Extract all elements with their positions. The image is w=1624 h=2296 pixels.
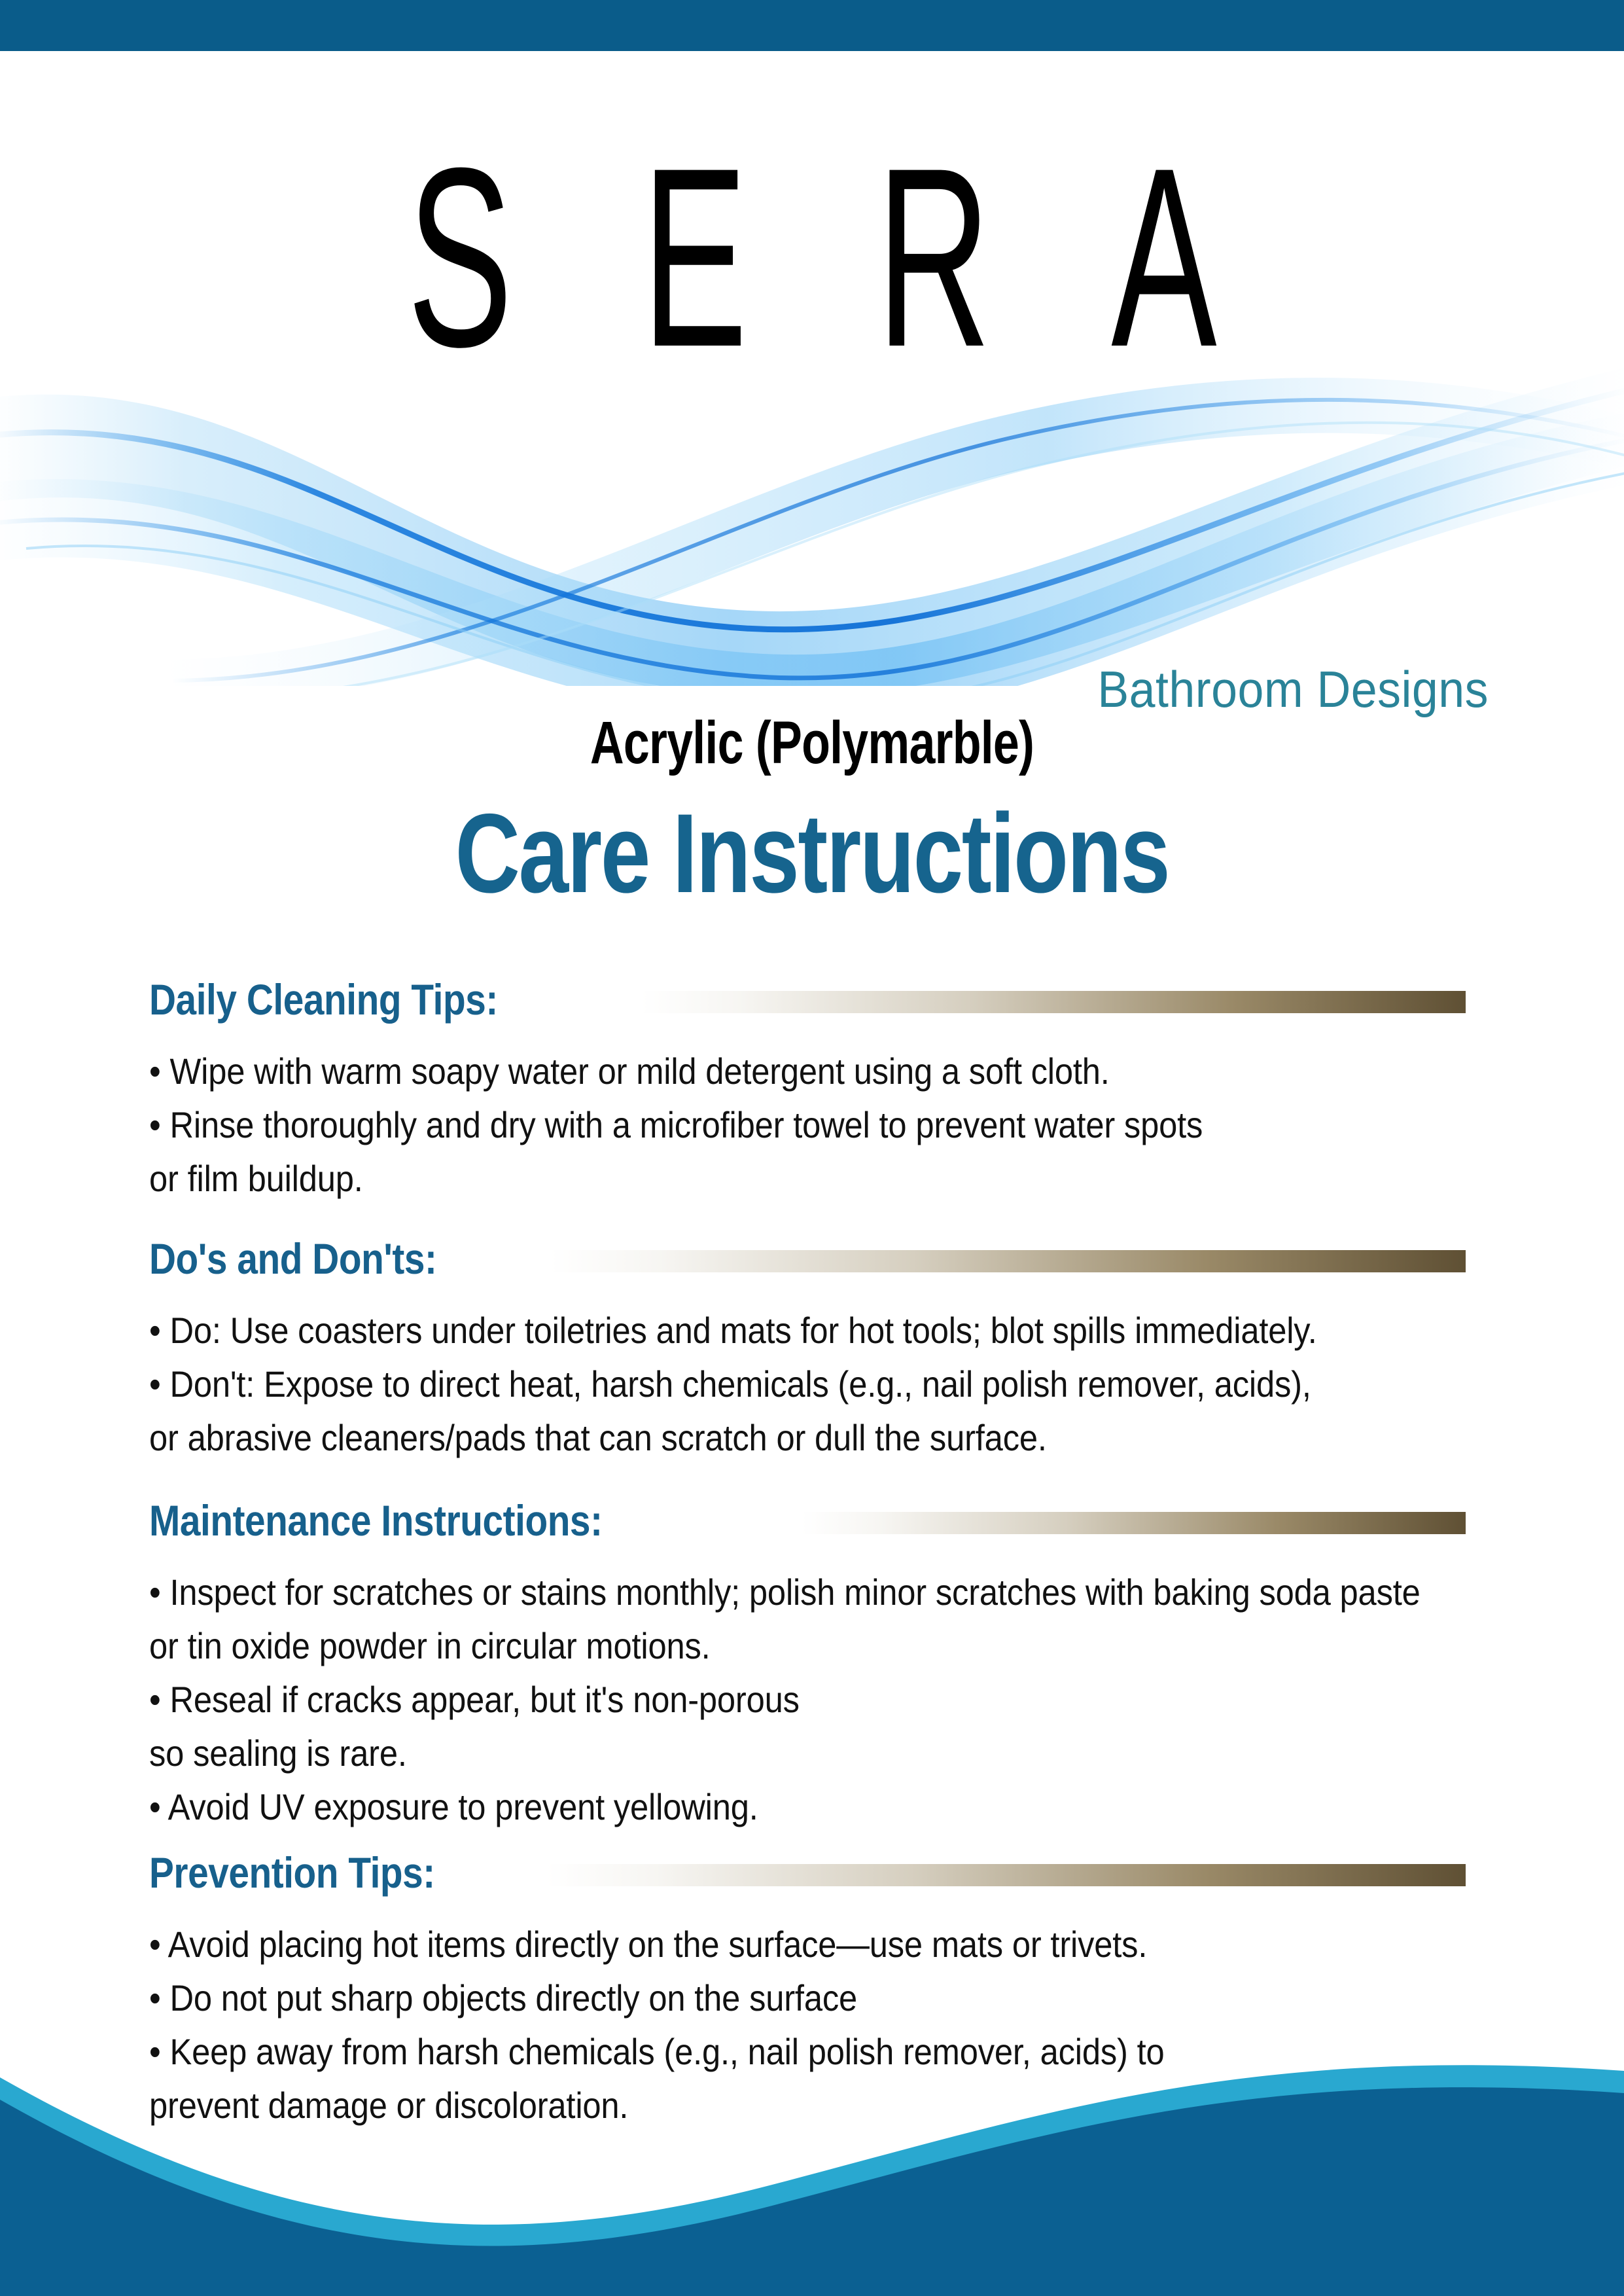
section-bullet-list: • Wipe with warm soapy water or mild det…	[0, 1035, 1624, 1206]
list-item: • Rinse thoroughly and dry with a microf…	[149, 1098, 1484, 1152]
section-header-row: Daily Cleaning Tips:	[0, 975, 1624, 1035]
section-divider-bar	[550, 1250, 1466, 1272]
list-item: or film buildup.	[149, 1152, 1484, 1206]
list-item: • Avoid UV exposure to prevent yellowing…	[149, 1780, 1484, 1834]
section-bullet-list: • Do: Use coasters under toiletries and …	[0, 1295, 1624, 1465]
section-daily-cleaning-tips: Daily Cleaning Tips: • Wipe with warm so…	[0, 975, 1624, 1206]
section-divider-bar	[802, 1512, 1466, 1534]
section-divider-bar	[546, 1864, 1466, 1886]
list-item: so sealing is rare.	[149, 1727, 1484, 1780]
list-item: or abrasive cleaners/pads that can scrat…	[149, 1411, 1484, 1465]
section-heading: Maintenance Instructions:	[149, 1496, 603, 1545]
material-subtitle: Acrylic (Polymarble)	[179, 709, 1445, 778]
section-maintenance-instructions: Maintenance Instructions: • Inspect for …	[0, 1496, 1624, 1834]
section-heading: Do's and Don'ts:	[149, 1234, 437, 1283]
list-item: • Reseal if cracks appear, but it's non-…	[149, 1673, 1484, 1727]
section-header-row: Maintenance Instructions:	[0, 1496, 1624, 1556]
section-header-row: Prevention Tips:	[0, 1848, 1624, 1909]
section-bullet-list: • Inspect for scratches or stains monthl…	[0, 1556, 1624, 1834]
list-item: or tin oxide powder in circular motions.	[149, 1619, 1484, 1673]
list-item: • Avoid placing hot items directly on th…	[149, 1918, 1484, 1971]
page-title: Care Instructions	[162, 789, 1462, 918]
care-instructions-content: Daily Cleaning Tips: • Wipe with warm so…	[0, 975, 1624, 2132]
header-block: S E R A	[0, 51, 1624, 719]
top-accent-bar	[0, 0, 1624, 51]
section-dos-and-donts: Do's and Don'ts: • Do: Use coasters unde…	[0, 1234, 1624, 1465]
list-item: • Wipe with warm soapy water or mild det…	[149, 1045, 1484, 1098]
list-item: • Don't: Expose to direct heat, harsh ch…	[149, 1357, 1484, 1411]
section-heading: Daily Cleaning Tips:	[149, 975, 498, 1024]
section-divider-bar	[641, 991, 1466, 1013]
sera-logo-wordmark: S E R A	[309, 130, 1316, 385]
list-item: • Do: Use coasters under toiletries and …	[149, 1304, 1484, 1357]
list-item: • Inspect for scratches or stains monthl…	[149, 1566, 1484, 1619]
list-item: • Do not put sharp objects directly on t…	[149, 1971, 1484, 2025]
section-header-row: Do's and Don'ts:	[0, 1234, 1624, 1295]
footer-wave-decoration	[0, 2021, 1624, 2296]
section-heading: Prevention Tips:	[149, 1848, 435, 1897]
